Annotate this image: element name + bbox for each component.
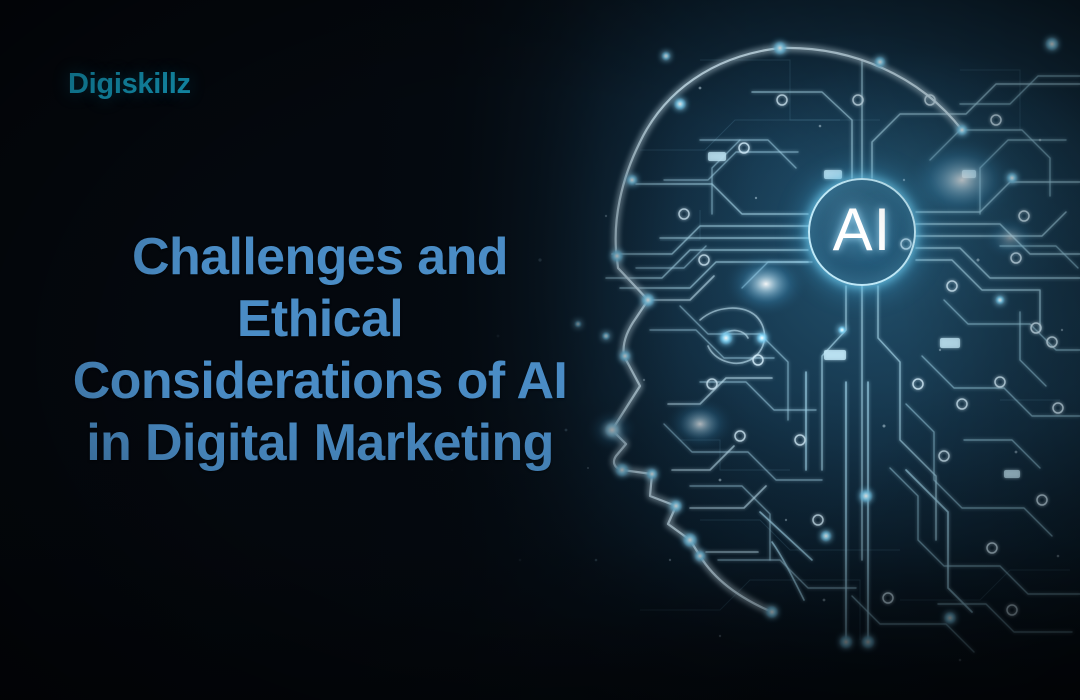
background-vignette: [0, 0, 1080, 700]
banner-canvas: AI Digiskillz Challenges and Ethical Con…: [0, 0, 1080, 700]
